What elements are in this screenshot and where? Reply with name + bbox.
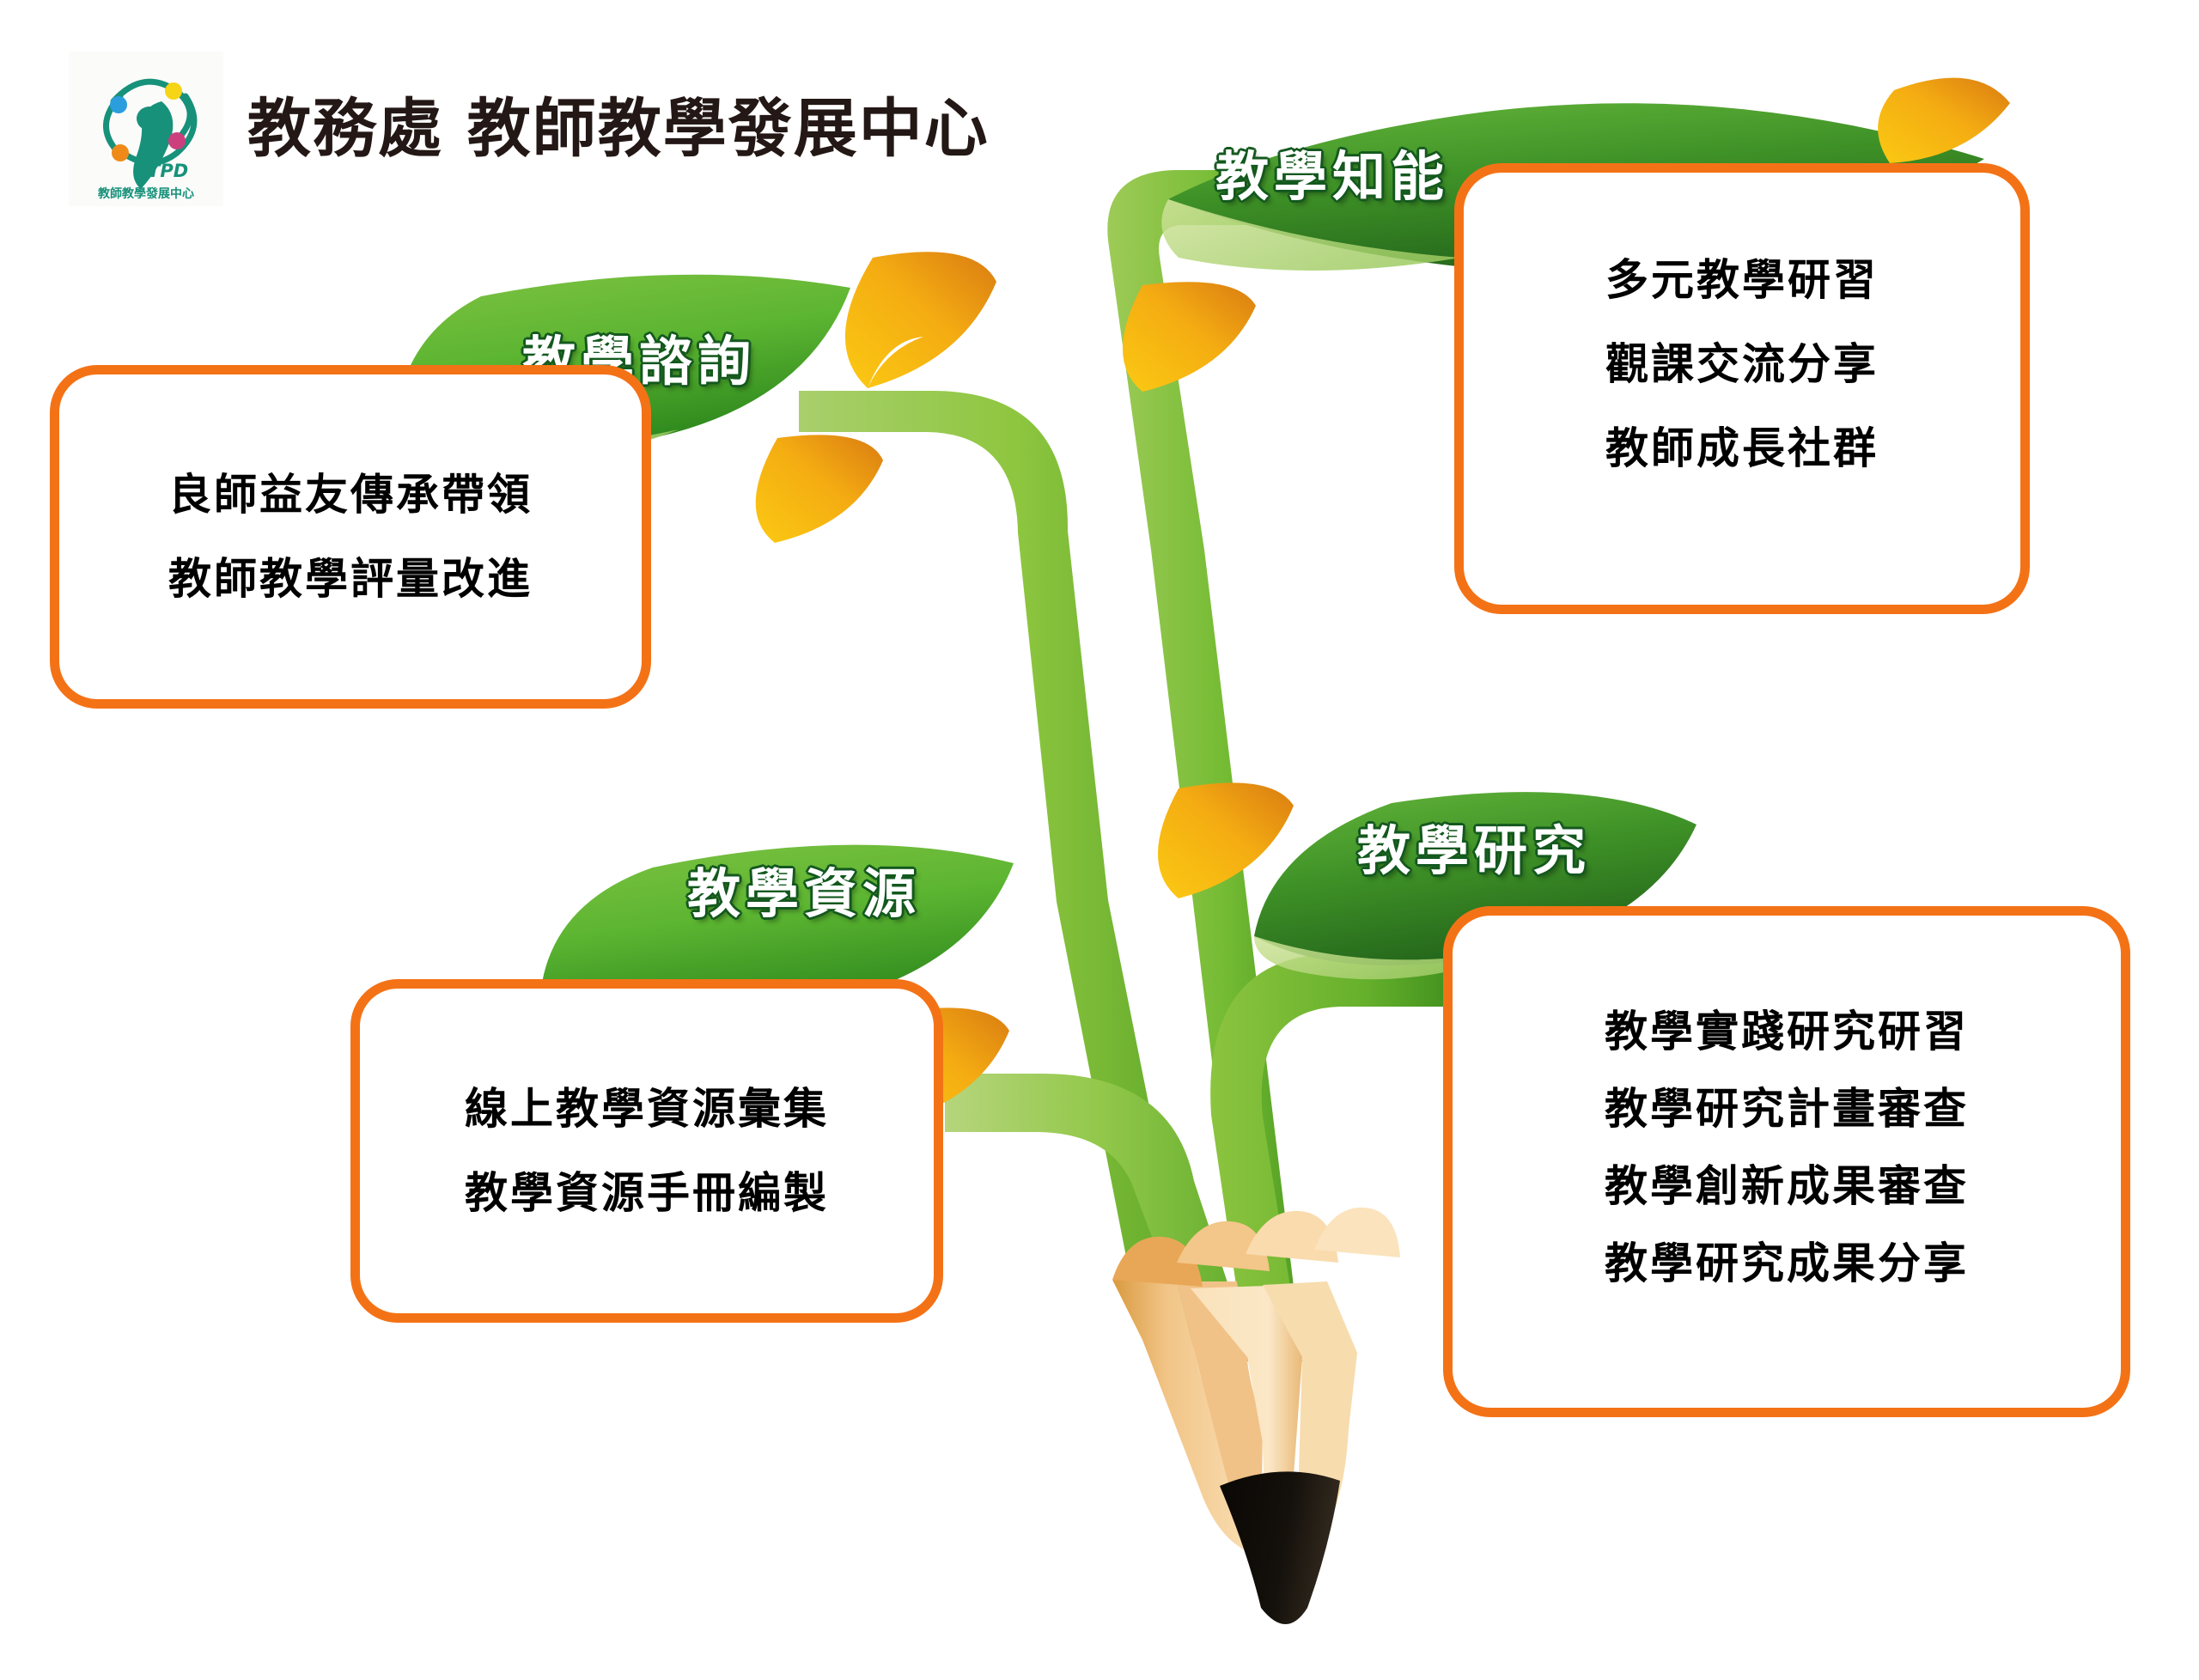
infographic-canvas: TPD 教師教學發展中心 教務處 教師教學發展中心 教學知能 教學諮詢 教學資源… (0, 0, 2199, 1680)
logo-sphere-yellow (165, 82, 182, 100)
content-box-knowledge: 多元教學研習 觀課交流分享 教師成長社群 (1454, 163, 2030, 614)
page-title: 教務處 教師教學發展中心 (247, 97, 990, 161)
content-box-resource: 線上教學資源彙集 教學資源手冊編製 (350, 979, 943, 1323)
list-item: 教師成長社群 (1605, 427, 1879, 470)
list-item: 教學研究計畫審查 (1605, 1087, 1969, 1130)
logo-sphere-blue (110, 96, 127, 113)
logo-sphere-orange (112, 144, 129, 161)
leaf-label-knowledge[interactable]: 教學知能 (1215, 150, 1449, 204)
list-item: 教學研究成果分享 (1605, 1242, 1969, 1285)
leaf-label-resource[interactable]: 教學資源 (687, 867, 921, 921)
list-item: 教學創新成果審查 (1605, 1165, 1969, 1208)
logo-sphere-magenta (168, 132, 186, 149)
list-item: 觀課交流分享 (1605, 343, 1879, 386)
list-item: 多元教學研習 (1605, 259, 1879, 301)
list-item: 教學實踐研究研習 (1605, 1010, 1969, 1053)
list-item: 良師益友傳承帶領 (168, 473, 533, 516)
list-item: 教學資源手冊編製 (465, 1172, 829, 1214)
content-box-research: 教學實踐研究研習 教學研究計畫審查 教學創新成果審查 教學研究成果分享 (1443, 906, 2130, 1417)
logo-acronym: TPD (148, 161, 188, 181)
page-header: TPD 教師教學發展中心 教務處 教師教學發展中心 (69, 52, 990, 206)
tpd-logo: TPD 教師教學發展中心 (69, 52, 223, 206)
logo-caption: 教師教學發展中心 (98, 186, 194, 201)
leaf-label-research[interactable]: 教學研究 (1357, 825, 1591, 878)
list-item: 教師教學評量改進 (168, 557, 533, 600)
list-item: 線上教學資源彙集 (465, 1087, 829, 1130)
content-box-consult: 良師益友傳承帶領 教師教學評量改進 (50, 365, 651, 709)
